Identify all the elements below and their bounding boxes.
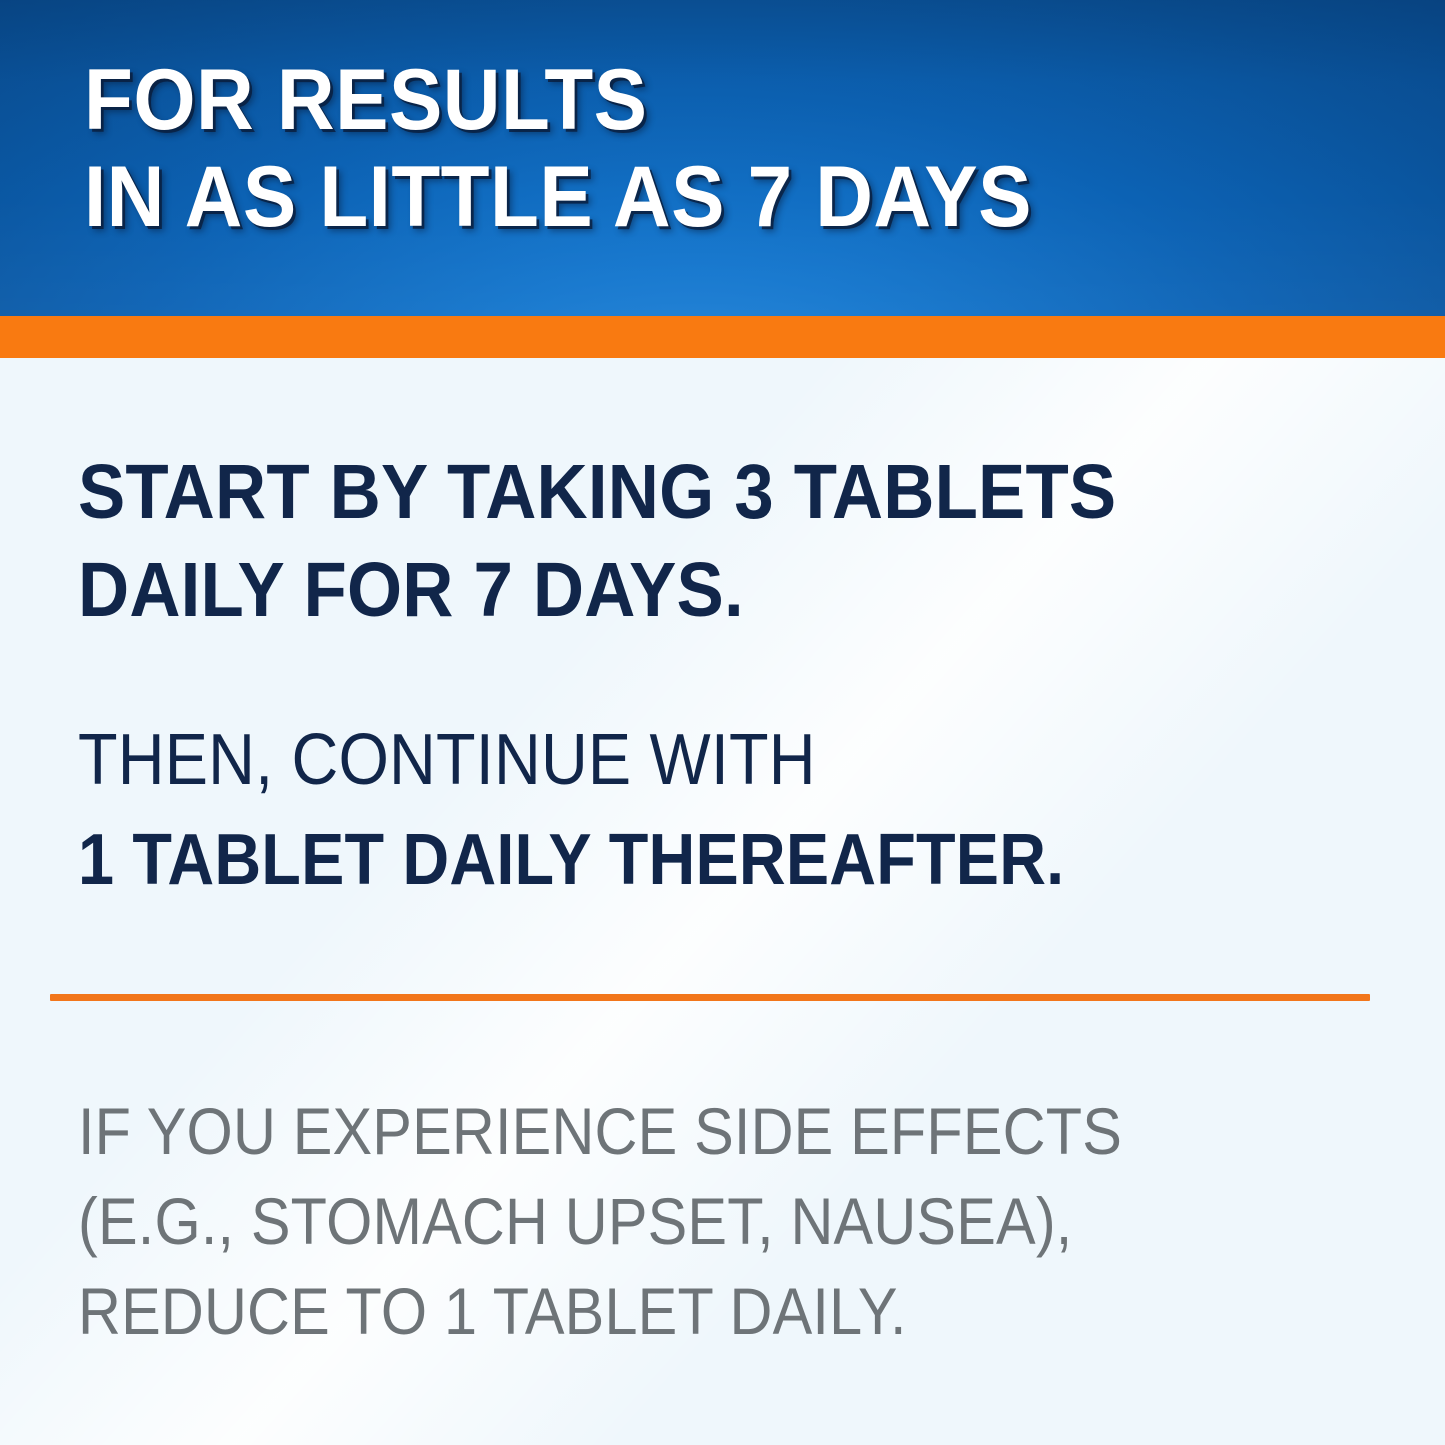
primary-instruction-line-2: DAILY FOR 7 DAYS. — [78, 541, 1274, 639]
section-divider — [50, 994, 1370, 1001]
banner-headline-line-1: FOR RESULTS — [84, 52, 1293, 149]
side-effects-note-line-1: IF YOU EXPERIENCE SIDE EFFECTS — [78, 1086, 1284, 1176]
side-effects-note-line-2: (E.G., STOMACH UPSET, NAUSEA), — [78, 1176, 1284, 1266]
body-content-area: START BY TAKING 3 TABLETS DAILY FOR 7 DA… — [0, 358, 1445, 1445]
dosage-instructions-panel: FOR RESULTS IN AS LITTLE AS 7 DAYS START… — [0, 0, 1445, 1445]
primary-instruction-line-1: START BY TAKING 3 TABLETS — [78, 443, 1274, 541]
banner-headline: FOR RESULTS IN AS LITTLE AS 7 DAYS — [84, 52, 1293, 246]
secondary-instruction: THEN, CONTINUE WITH 1 TABLET DAILY THERE… — [78, 710, 1266, 910]
primary-instruction: START BY TAKING 3 TABLETS DAILY FOR 7 DA… — [78, 443, 1274, 639]
orange-accent-bar — [0, 316, 1445, 358]
secondary-instruction-line-2: 1 TABLET DAILY THEREAFTER. — [78, 810, 1266, 910]
header-banner: FOR RESULTS IN AS LITTLE AS 7 DAYS — [0, 0, 1445, 316]
side-effects-note-line-3: REDUCE TO 1 TABLET DAILY. — [78, 1266, 1284, 1356]
side-effects-note: IF YOU EXPERIENCE SIDE EFFECTS (E.G., ST… — [78, 1086, 1284, 1356]
secondary-instruction-line-1: THEN, CONTINUE WITH — [78, 710, 1266, 810]
banner-headline-line-2: IN AS LITTLE AS 7 DAYS — [84, 149, 1293, 246]
